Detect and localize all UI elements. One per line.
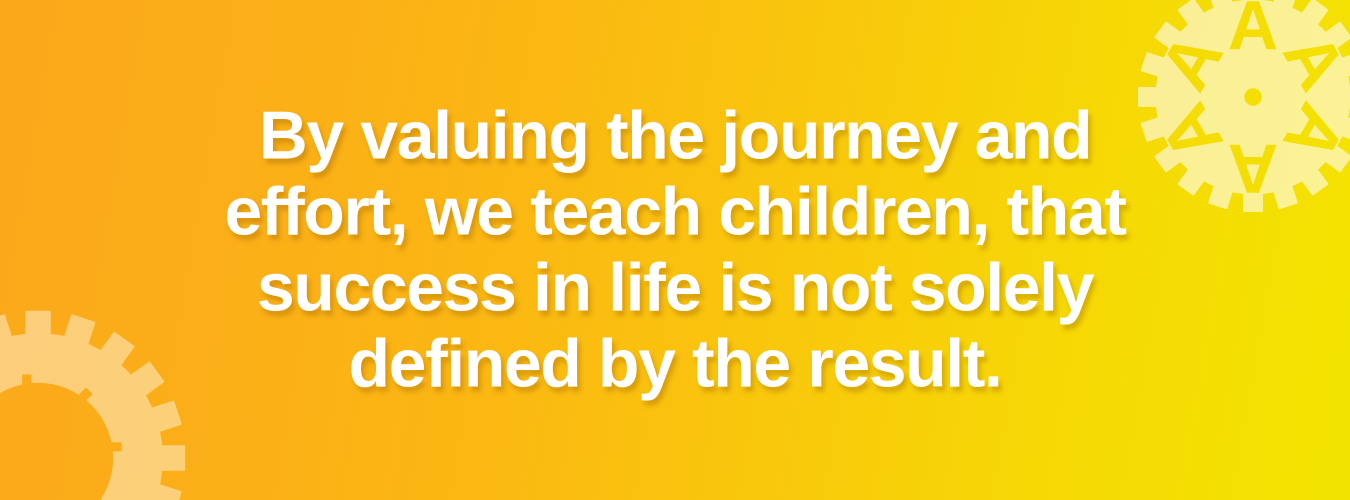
quote-line: By valuing the journey and <box>120 98 1230 174</box>
quote-text-block: By valuing the journey and effort, we te… <box>0 98 1350 403</box>
quote-banner: A A A A A A <box>0 0 1350 500</box>
quote-line: effort, we teach children, that <box>120 174 1230 250</box>
quote-line: success in life is not solely <box>120 250 1230 326</box>
quote-line: defined by the result. <box>120 326 1230 402</box>
